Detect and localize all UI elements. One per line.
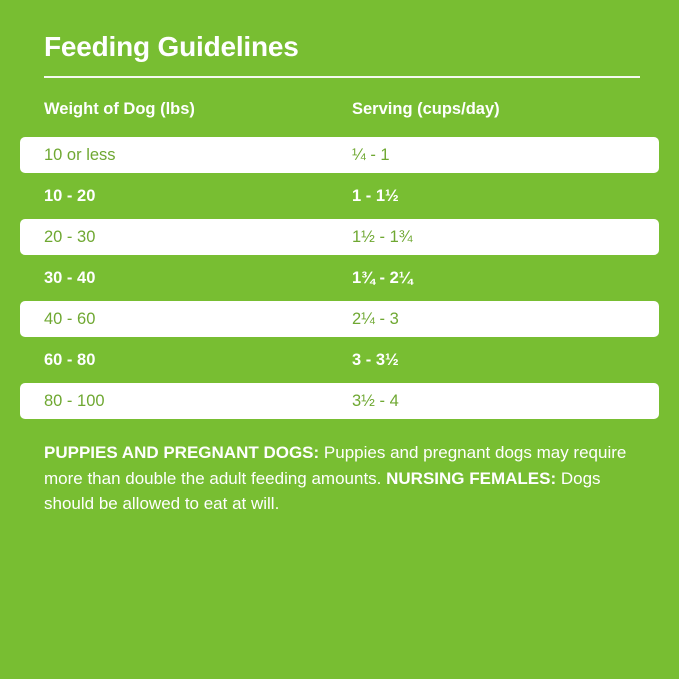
cell-weight: 10 - 20 xyxy=(44,178,95,214)
column-header-serving: Serving (cups/day) xyxy=(352,98,500,120)
row-background xyxy=(20,342,659,378)
cell-weight: 80 - 100 xyxy=(44,383,105,419)
column-header-weight: Weight of Dog (lbs) xyxy=(44,98,195,120)
row-background xyxy=(20,301,659,337)
cell-serving: 1 - 1½ xyxy=(352,178,399,214)
row-background xyxy=(20,178,659,214)
row-background xyxy=(20,383,659,419)
cell-weight: 20 - 30 xyxy=(44,219,95,255)
feeding-guidelines-panel: Feeding Guidelines Weight of Dog (lbs) S… xyxy=(0,0,679,679)
table-row: 80 - 100 3½ - 4 xyxy=(0,383,679,419)
cell-serving: 2¼ - 3 xyxy=(352,301,399,337)
cell-serving: 1¾ - 2¼ xyxy=(352,260,413,296)
cell-weight: 10 or less xyxy=(44,137,116,173)
title-divider xyxy=(44,76,640,78)
feeding-note: PUPPIES AND PREGNANT DOGS: Puppies and p… xyxy=(44,440,644,517)
page-title: Feeding Guidelines xyxy=(44,30,299,64)
table-header-row: Weight of Dog (lbs) Serving (cups/day) xyxy=(0,98,679,132)
table-row: 10 or less ¼ - 1 xyxy=(0,137,679,173)
cell-serving: ¼ - 1 xyxy=(352,137,390,173)
feeding-table: Weight of Dog (lbs) Serving (cups/day) 1… xyxy=(0,98,679,424)
table-row: 20 - 30 1½ - 1¾ xyxy=(0,219,679,255)
note-label-puppies: PUPPIES AND PREGNANT DOGS: xyxy=(44,443,319,462)
note-label-nursing: NURSING FEMALES: xyxy=(386,469,556,488)
cell-serving: 3½ - 4 xyxy=(352,383,399,419)
cell-weight: 60 - 80 xyxy=(44,342,95,378)
cell-weight: 30 - 40 xyxy=(44,260,95,296)
cell-serving: 3 - 3½ xyxy=(352,342,399,378)
cell-weight: 40 - 60 xyxy=(44,301,95,337)
table-row: 40 - 60 2¼ - 3 xyxy=(0,301,679,337)
row-background xyxy=(20,260,659,296)
cell-serving: 1½ - 1¾ xyxy=(352,219,413,255)
row-background xyxy=(20,137,659,173)
table-row: 10 - 20 1 - 1½ xyxy=(0,178,679,214)
row-background xyxy=(20,219,659,255)
table-row: 60 - 80 3 - 3½ xyxy=(0,342,679,378)
table-row: 30 - 40 1¾ - 2¼ xyxy=(0,260,679,296)
